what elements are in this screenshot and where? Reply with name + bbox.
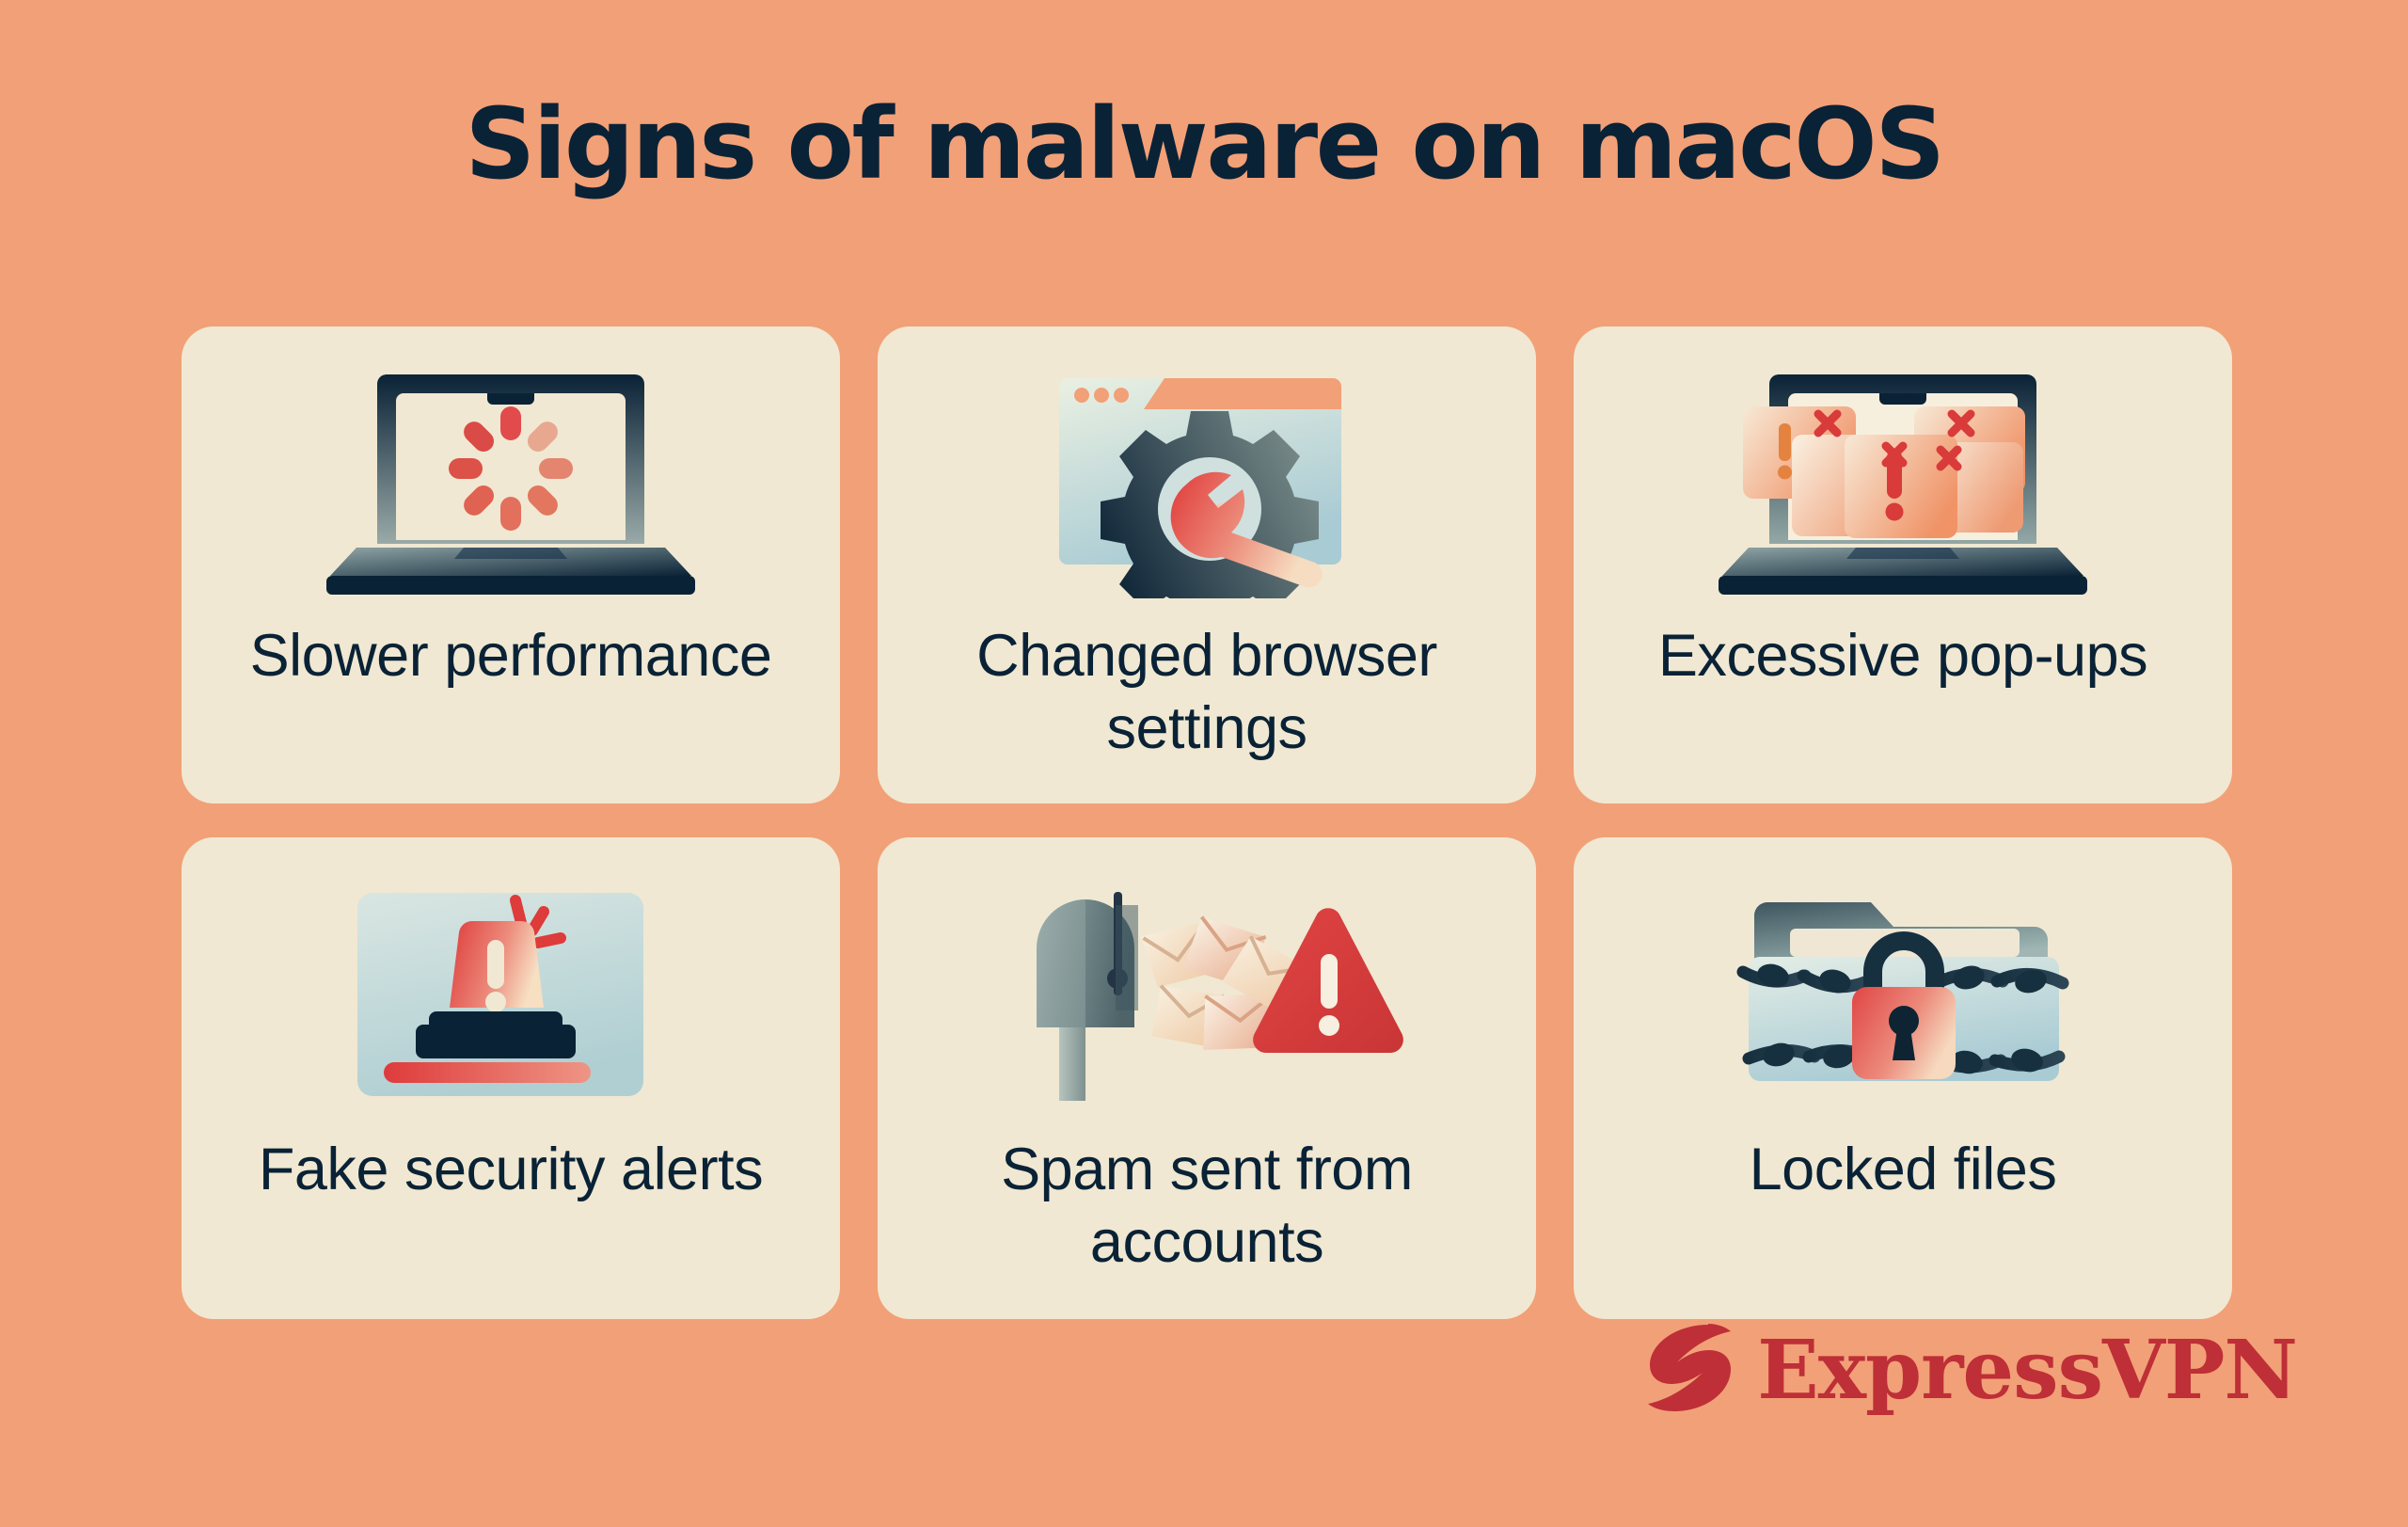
card-label: Slower performance — [222, 620, 800, 692]
laptop-loading-spinner-icon — [182, 358, 840, 603]
card-changed-browser: Changed browser settings — [878, 326, 1536, 803]
expressvpn-logo: ExpressVPN — [1639, 1319, 2297, 1422]
card-label: Changed browser settings — [878, 620, 1536, 765]
infographic-page: Signs of malware on macOS — [0, 0, 2408, 1527]
card-slower-performance: Slower performance — [182, 326, 840, 803]
card-label: Fake security alerts — [230, 1134, 791, 1206]
signs-grid: Slower performance — [182, 326, 2232, 1319]
card-spam-sent: Spam sent from accounts — [878, 837, 1536, 1319]
folder-lock-chain-icon — [1574, 869, 2232, 1109]
expressvpn-wordmark: ExpressVPN — [1757, 1330, 2297, 1411]
siren-alert-icon — [182, 869, 840, 1109]
card-excessive-popups: Excessive pop-ups — [1574, 326, 2232, 803]
card-locked-files: Locked files — [1574, 837, 2232, 1319]
card-label: Spam sent from accounts — [878, 1134, 1536, 1279]
card-label: Excessive pop-ups — [1630, 620, 2176, 692]
card-label: Locked files — [1721, 1134, 2085, 1206]
page-title: Signs of malware on macOS — [0, 90, 2408, 198]
mailbox-spam-icon — [878, 869, 1536, 1109]
browser-gear-wrench-icon — [878, 358, 1536, 603]
card-fake-security-alerts: Fake security alerts — [182, 837, 840, 1319]
expressvpn-lightning-mark — [1639, 1319, 1740, 1422]
laptop-popups-icon — [1574, 358, 2232, 603]
